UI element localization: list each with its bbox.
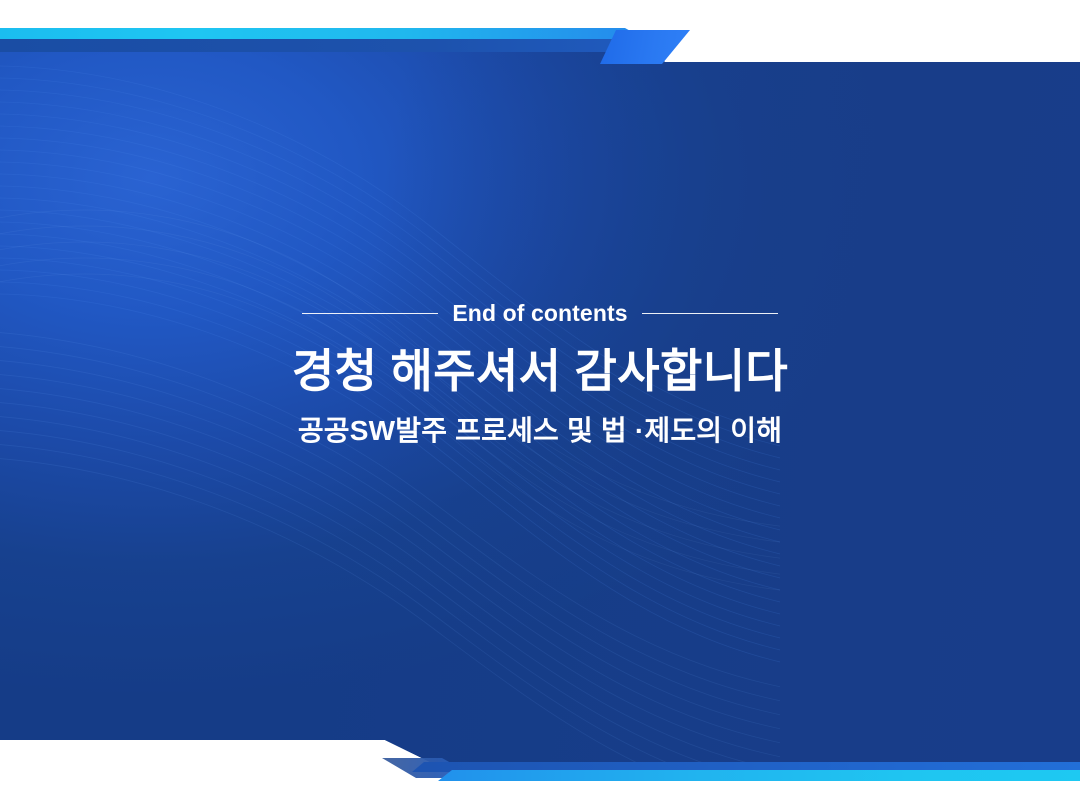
eyebrow-row: End of contents: [0, 296, 1080, 330]
eyebrow-rule-left: [302, 313, 438, 314]
closing-subtitle: 공공SW발주 프로세스 및 법 ·제도의 이해: [0, 414, 1080, 448]
top-stripe-secondary: [0, 38, 1080, 52]
eyebrow-label: End of contents: [452, 302, 627, 325]
closing-headline: 경청 해주셔서 감사합니다: [0, 344, 1080, 398]
closing-slide: End of contents 경청 해주셔서 감사합니다 공공SW발주 프로세…: [0, 0, 1080, 810]
closing-text-block: End of contents 경청 해주셔서 감사합니다 공공SW발주 프로세…: [0, 296, 1080, 448]
bottom-stripe-cyan: [0, 770, 1080, 781]
top-stripe-cyan: [0, 28, 1080, 39]
eyebrow-rule-right: [642, 313, 778, 314]
